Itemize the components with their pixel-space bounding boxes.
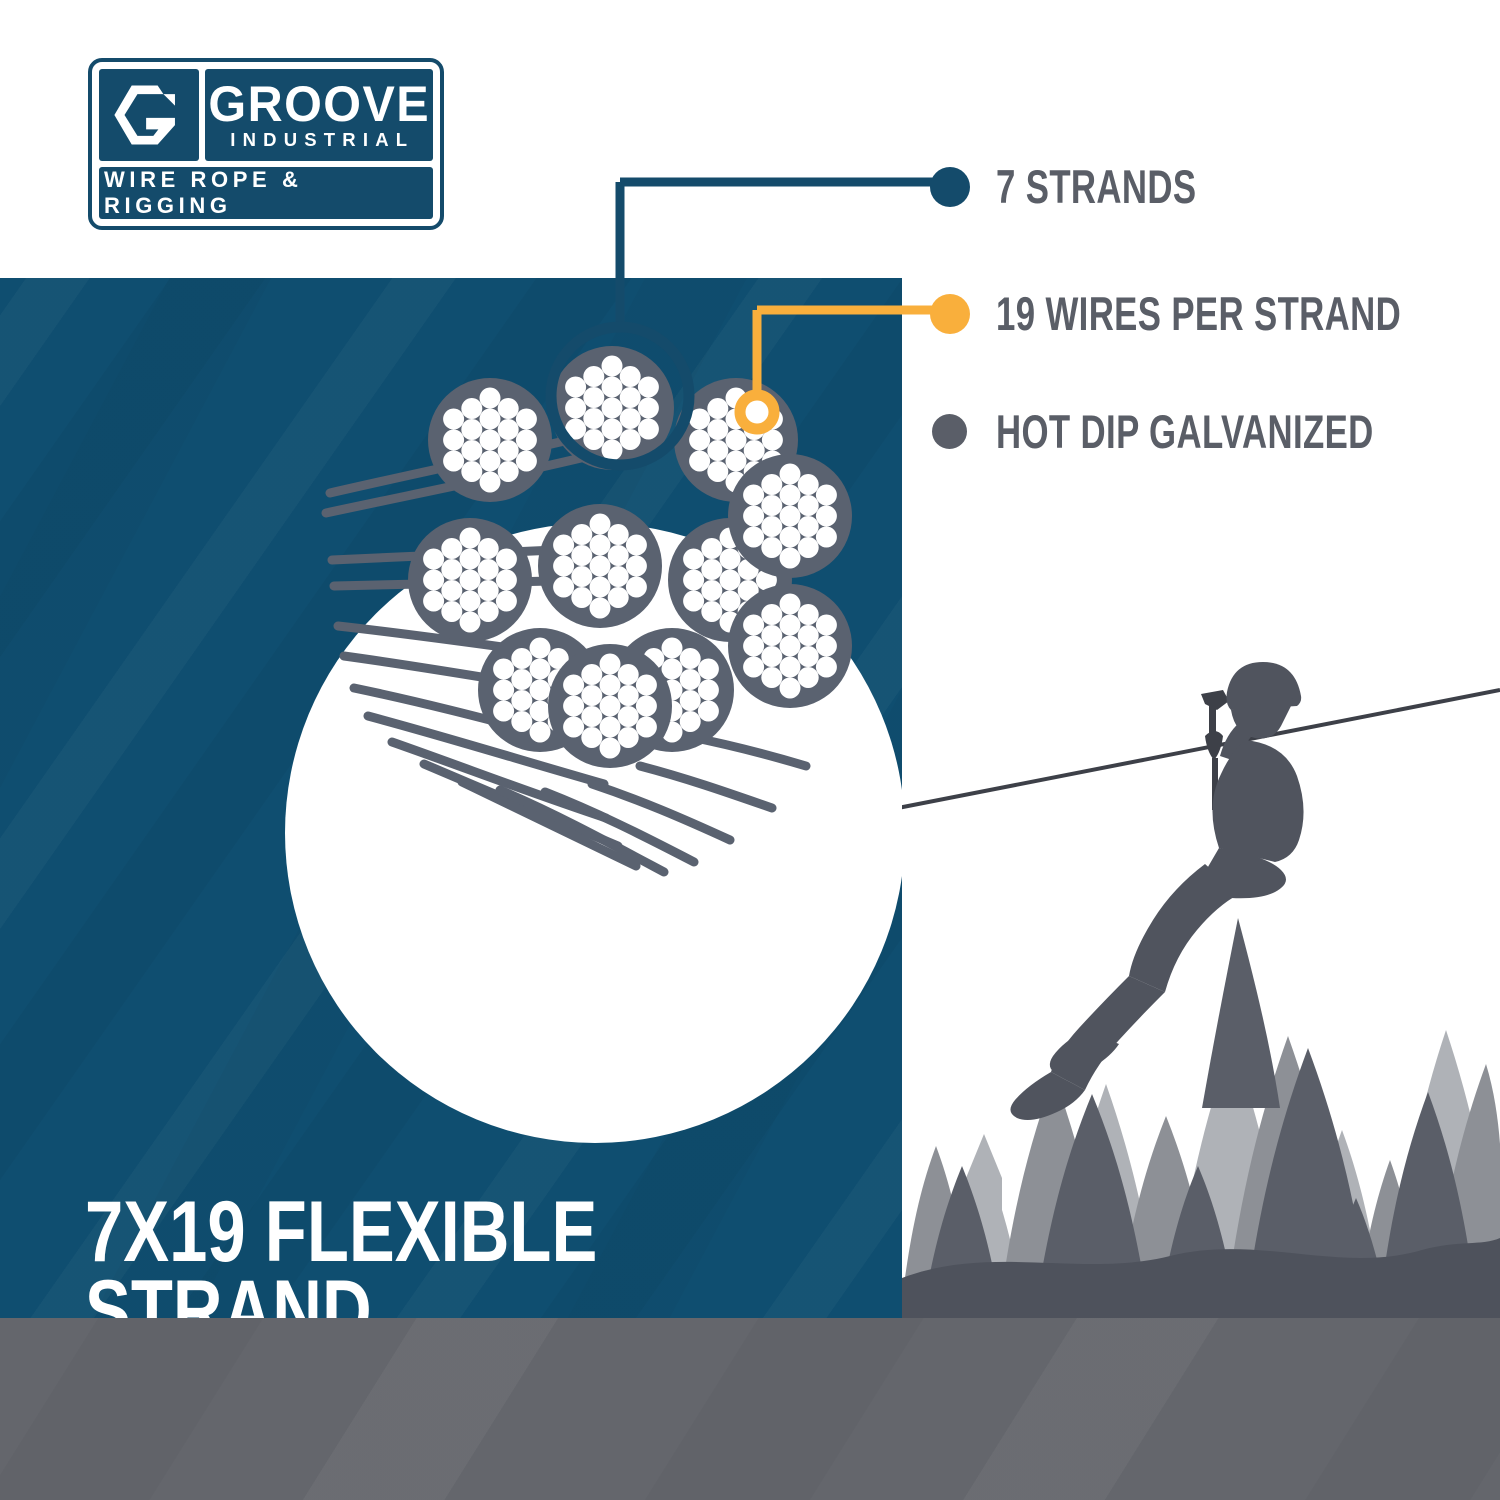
brand-tagline-bar: WIRE ROPE & RIGGING (99, 167, 433, 219)
page-title: 7X19 FLEXIBLE STRAND CONSTRUCTION (85, 1193, 725, 1318)
callout-strands[interactable]: 7 STRANDS (930, 163, 1267, 210)
groove-g-icon (99, 69, 199, 161)
infographic-canvas: 7X19 FLEXIBLE STRAND CONSTRUCTION Our ai… (0, 0, 1500, 1500)
headline-line-1: 7X19 FLEXIBLE (85, 1193, 725, 1272)
callout-label-galvanized: HOT DIP GALVANIZED (996, 408, 1374, 455)
brand-tagline: WIRE ROPE & RIGGING (99, 167, 433, 219)
diagram-circle-backdrop (285, 523, 902, 1143)
callout-dot-amber-icon (930, 294, 970, 334)
brand-subname: INDUSTRIAL (223, 129, 414, 150)
callout-label-wires: 19 WIRES PER STRAND (996, 290, 1401, 337)
brand-wordmark: GROOVE INDUSTRIAL (205, 69, 433, 161)
callout-label-strands: 7 STRANDS (996, 163, 1196, 210)
callout-dot-navy-icon (930, 167, 970, 207)
callout-wires-per-strand[interactable]: 19 WIRES PER STRAND (930, 290, 1500, 337)
bottom-gray-band (0, 1318, 1500, 1500)
bottom-band-texture (0, 1318, 1500, 1500)
brand-logo[interactable]: GROOVE INDUSTRIAL WIRE ROPE & RIGGING (88, 58, 444, 230)
brand-name: GROOVE (208, 80, 430, 128)
callout-dot-gray-icon (932, 414, 967, 449)
navy-panel: 7X19 FLEXIBLE STRAND CONSTRUCTION Our ai… (0, 278, 902, 1318)
callout-galvanized[interactable]: HOT DIP GALVANIZED (930, 408, 1500, 455)
